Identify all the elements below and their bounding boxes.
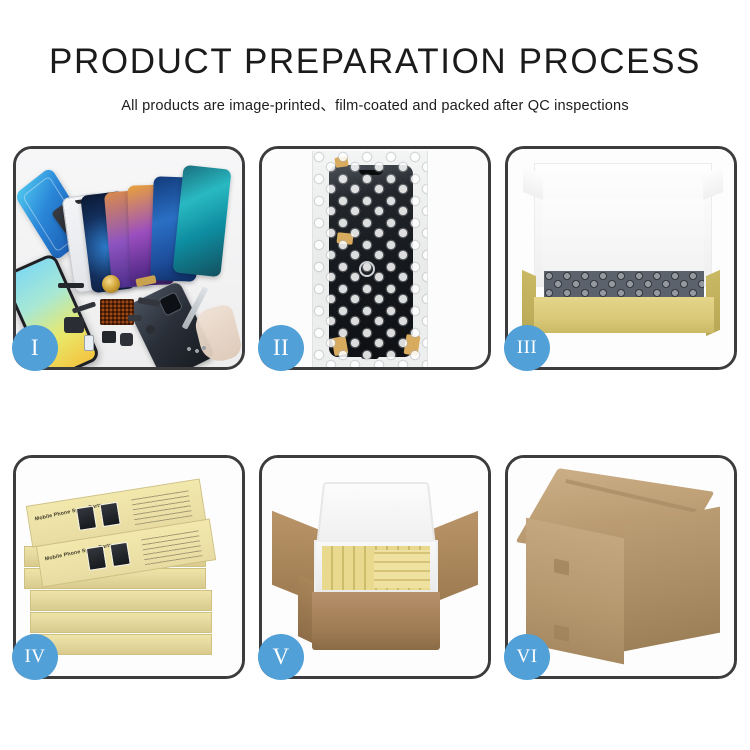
step-badge-5: V [258,634,304,680]
page-header: PRODUCT PREPARATION PROCESS All products… [0,0,750,115]
process-step-panel-2[interactable]: II [259,146,491,370]
foam-lid-icon [316,482,435,543]
box-foam-icon [542,199,704,275]
home-button-icon [146,325,155,334]
copper-shield-mesh-icon [100,299,134,325]
process-step-panel-6[interactable]: VI [505,455,737,679]
battery-connector-icon [84,335,94,351]
box-spec-lines-2 [141,528,203,565]
packed-boxes-row-2 [374,550,430,588]
phone-screen-icon-5 [172,165,231,277]
page-subtitle: All products are image-printed、film-coat… [0,94,750,115]
page-title: PRODUCT PREPARATION PROCESS [0,44,750,81]
carton-side-face [624,507,720,652]
process-step-panel-5[interactable]: V [259,455,491,679]
screws-icon [186,345,208,355]
antenna-strip-icon [58,283,84,288]
carton-front-panel [312,592,440,650]
step-badge-1: I [12,325,58,371]
sim-tray-icon [128,315,142,321]
step-badge-6: VI [504,634,550,680]
bubble-wrap-bag-icon [312,151,428,367]
product-preparation-process-page: PRODUCT PREPARATION PROCESS All products… [0,0,750,750]
carton-flap-right [432,511,478,604]
speaker-coil-icon [102,275,120,293]
process-step-panel-1[interactable]: I [13,146,245,370]
vibration-motor-icon [120,333,133,346]
box-front-panel [534,297,714,333]
box-artwork-screen-1 [86,545,107,571]
bubble-wrap-fill-icon [544,271,704,299]
step-badge-2: II [258,325,304,371]
bubble-texture [313,151,427,367]
process-step-grid: I II [13,146,737,679]
carton-tape-icon-1 [554,558,569,575]
camera-module-icon [102,331,116,343]
box-artwork-screen-2 [109,542,130,568]
box-spec-lines-1 [131,488,193,525]
step-badge-4: IV [12,634,58,680]
carton-tape-icon-2 [554,624,569,641]
flex-cable-icon-2 [64,317,84,333]
box-artwork-screen-3 [76,505,97,531]
stacked-box-3 [30,590,212,611]
process-step-panel-4[interactable]: Mobile Phone Spare Parts Mobile Phone Sp… [13,455,245,679]
step-badge-3: III [504,325,550,371]
stacked-box-4 [30,612,212,633]
box-artwork-screen-4 [99,502,120,528]
process-step-panel-3[interactable]: III [505,146,737,370]
